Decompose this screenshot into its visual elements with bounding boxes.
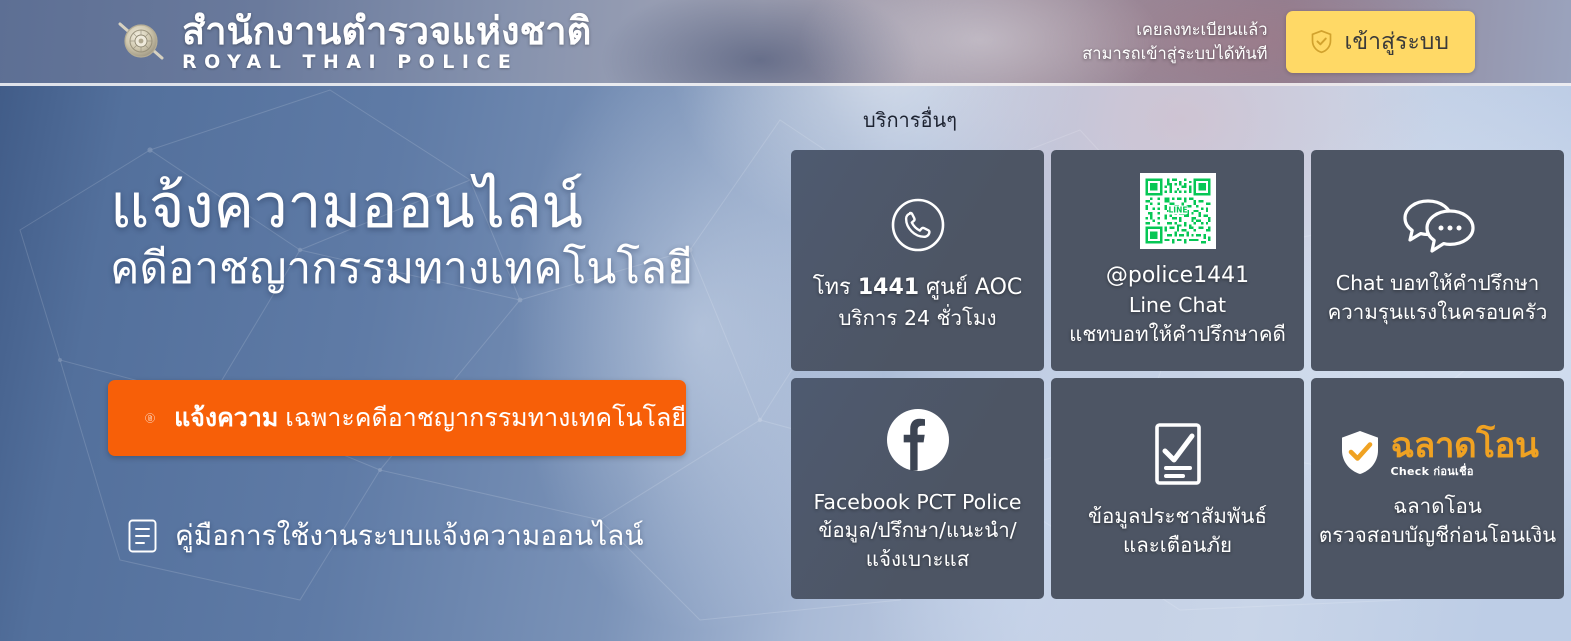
phone-circle-icon <box>882 189 954 261</box>
line-qr-code-icon: LINE <box>1140 173 1216 249</box>
svg-text:LINE: LINE <box>1168 206 1187 215</box>
shield-check-brand-icon <box>1337 428 1383 478</box>
facebook-icon <box>882 404 954 476</box>
royal-thai-police-emblem-icon <box>112 12 170 70</box>
card-line: ความรุนแรงในครอบครัว <box>1328 298 1548 326</box>
card-line: แจ้งเบาะแส <box>813 545 1021 573</box>
service-cards-grid: โทร 1441 ศูนย์ AOC บริการ 24 ชั่วโมง <box>791 150 1517 599</box>
service-card-text: โทร 1441 ศูนย์ AOC บริการ 24 ชั่วโมง <box>813 273 1023 332</box>
facebook-icon-wrap <box>882 404 954 476</box>
page-subtitle: คดีอาชญากรรมทางเทคโนโลยี <box>110 244 730 293</box>
shield-check-icon <box>1308 28 1335 55</box>
report-button-rest-text: เฉพาะคดีอาชญากรรมทางเทคโนโลยี <box>278 404 686 432</box>
service-card-text: ฉลาดโอน ตรวจสอบบัญชีก่อนโอนเงิน <box>1319 492 1556 549</box>
user-manual-label: คู่มือการใช้งานระบบแจ้งความออนไลน์ <box>175 514 643 558</box>
login-button-label: เข้าสู่ระบบ <box>1345 24 1449 60</box>
logo-thai-title: สำนักงานตำรวจแห่งชาติ <box>182 11 591 51</box>
chalad-on-logo-tagline: Check ก่อนเชื่อ <box>1391 466 1539 477</box>
report-crime-button[interactable]: แจ้งความ เฉพาะคดีอาชญากรรมทางเทคโนโลยี <box>108 380 686 456</box>
aoc-prefix: โทร <box>813 275 858 300</box>
card-line: โทร 1441 ศูนย์ AOC <box>813 273 1023 303</box>
card-line: ตรวจสอบบัญชีก่อนโอนเงิน <box>1319 521 1556 549</box>
qr-code-matrix: LINE <box>1143 176 1213 246</box>
service-card-domestic-violence-chatbot[interactable]: Chat บอทให้คำปรึกษา ความรุนแรงในครอบครัว <box>1311 150 1564 371</box>
line-qr-wrap: LINE <box>1140 173 1216 249</box>
login-note-line1: เคยลงทะเบียนแล้ว <box>1082 18 1267 41</box>
user-manual-link[interactable]: คู่มือการใช้งานระบบแจ้งความออนไลน์ <box>128 514 643 558</box>
service-card-facebook-pct-police[interactable]: Facebook PCT Police ข้อมูล/ปรึกษา/แนะนำ/… <box>791 378 1044 599</box>
page-root: สำนักงานตำรวจแห่งชาติ ROYAL THAI POLICE … <box>0 0 1571 641</box>
login-button[interactable]: เข้าสู่ระบบ <box>1286 11 1475 73</box>
card-line: และเตือนภัย <box>1088 531 1267 559</box>
service-card-text: ข้อมูลประชาสัมพันธ์ และเตือนภัย <box>1088 502 1267 559</box>
service-card-aoc-hotline[interactable]: โทร 1441 ศูนย์ AOC บริการ 24 ชั่วโมง <box>791 150 1044 371</box>
service-card-public-information[interactable]: ข้อมูลประชาสัมพันธ์ และเตือนภัย <box>1051 378 1304 599</box>
document-report-icon <box>145 397 155 439</box>
service-card-line-chat[interactable]: LINE @police1441 Line Chat แชทบอทให้คำปร… <box>1051 150 1304 371</box>
card-line: ข้อมูลประชาสัมพันธ์ <box>1088 502 1267 530</box>
chalad-on-logo-icon: ฉลาดโอน Check ก่อนเชื่อ <box>1337 428 1539 478</box>
chat-bubbles-icon-wrap <box>1395 195 1481 257</box>
service-card-text: Facebook PCT Police ข้อมูล/ปรึกษา/แนะนำ/… <box>813 488 1021 573</box>
hero-text-block: แจ้งความออนไลน์ คดีอาชญากรรมทางเทคโนโลยี <box>110 176 730 293</box>
card-line: Chat บอทให้คำปรึกษา <box>1328 269 1548 297</box>
other-services-section: บริการอื่นๆ โทร 1441 ศูนย์ AOC บริการ 24… <box>791 104 1517 599</box>
header-login-area: เคยลงทะเบียนแล้ว สามารถเข้าสู่ระบบได้ทัน… <box>1082 11 1475 73</box>
chat-bubbles-icon <box>1395 195 1481 257</box>
card-line: ฉลาดโอน <box>1319 492 1556 520</box>
card-line: แชทบอทให้คำปรึกษาคดี <box>1069 320 1286 348</box>
document-check-icon <box>1147 418 1209 490</box>
card-line: บริการ 24 ชั่วโมง <box>813 304 1023 332</box>
login-note-line2: สามารถเข้าสู่ระบบได้ทันที <box>1082 42 1267 65</box>
chalad-on-logo-main: ฉลาดโอน <box>1391 429 1539 464</box>
page-title: แจ้งความออนไลน์ <box>110 176 730 238</box>
card-line: Facebook PCT Police <box>813 488 1021 516</box>
card-line: Line Chat <box>1069 291 1286 319</box>
document-list-icon <box>128 519 157 553</box>
report-button-bold-text: แจ้งความ <box>174 404 278 432</box>
card-line: ข้อมูล/ปรึกษา/แนะนำ/ <box>813 516 1021 544</box>
report-crime-button-label: แจ้งความ เฉพาะคดีอาชญากรรมทางเทคโนโลยี <box>174 398 686 438</box>
logo-english-title: ROYAL THAI POLICE <box>182 53 591 72</box>
aoc-suffix: ศูนย์ AOC <box>919 275 1022 300</box>
site-logo[interactable]: สำนักงานตำรวจแห่งชาติ ROYAL THAI POLICE <box>112 11 591 72</box>
service-card-text: Chat บอทให้คำปรึกษา ความรุนแรงในครอบครัว <box>1328 269 1548 326</box>
card-line: @police1441 <box>1069 261 1286 291</box>
login-note: เคยลงทะเบียนแล้ว สามารถเข้าสู่ระบบได้ทัน… <box>1082 18 1267 65</box>
phone-circle-icon-wrap <box>882 189 954 261</box>
other-services-title: บริการอื่นๆ <box>863 104 1517 136</box>
site-header: สำนักงานตำรวจแห่งชาติ ROYAL THAI POLICE … <box>0 0 1571 86</box>
service-card-chalad-on[interactable]: ฉลาดโอน Check ก่อนเชื่อ ฉลาดโอน ตรวจสอบบ… <box>1311 378 1564 599</box>
service-card-text: @police1441 Line Chat แชทบอทให้คำปรึกษาค… <box>1069 261 1286 348</box>
aoc-number: 1441 <box>858 275 919 300</box>
document-check-icon-wrap <box>1147 418 1209 490</box>
